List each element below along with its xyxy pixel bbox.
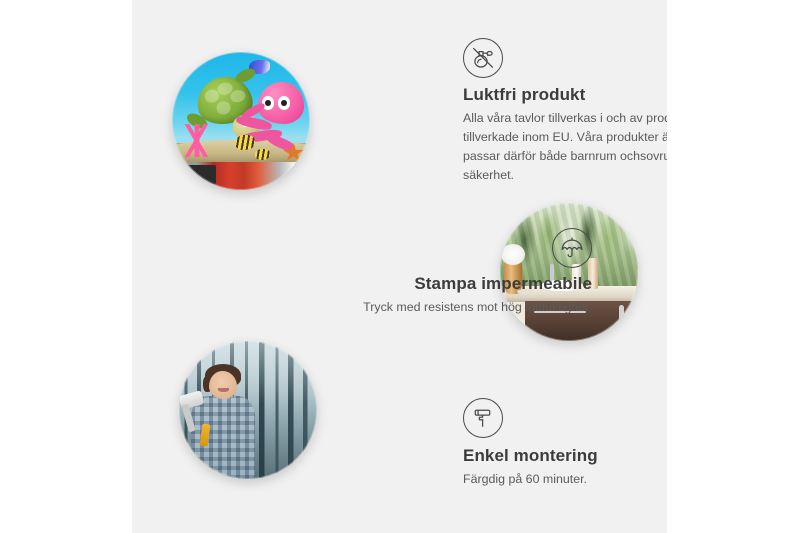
image-bubble-ocean-mural[interactable] bbox=[172, 52, 310, 190]
striped-fish-icon bbox=[235, 135, 254, 150]
feature-title: Stampa impermeabile bbox=[332, 274, 592, 294]
feature-panel: Luktfri produkt Alla våra tavlor tillver… bbox=[132, 0, 667, 533]
ocean-foreground-strip bbox=[172, 162, 310, 190]
forest-mural-artwork bbox=[179, 341, 317, 479]
feature-block-easy-mounting: Enkel montering Färgdig på 60 minuter. bbox=[463, 398, 667, 489]
octopus-head bbox=[258, 82, 305, 123]
feature-description: Alla våra tavlor tillverkas i och av pro… bbox=[463, 109, 667, 184]
person-face bbox=[209, 371, 237, 399]
umbrella-icon bbox=[552, 228, 592, 268]
screenshot-root: Luktfri produkt Alla våra tavlor tillver… bbox=[0, 0, 800, 533]
turtle-flipper-back bbox=[234, 66, 257, 85]
icon-wrapper bbox=[463, 398, 667, 438]
icon-wrapper bbox=[463, 38, 667, 78]
no-odour-icon bbox=[463, 38, 503, 78]
feature-title: Luktfri produkt bbox=[463, 85, 667, 105]
feature-description: Färgdig på 60 minuter. bbox=[463, 470, 667, 489]
pink-coral bbox=[178, 124, 217, 157]
feature-block-odour-free: Luktfri produkt Alla våra tavlor tillver… bbox=[463, 38, 667, 184]
person-smile bbox=[218, 388, 229, 392]
feature-block-waterproof-print: Stampa impermeabile Tryck med resistens … bbox=[332, 228, 592, 317]
feature-description: Tryck med resistens mot hög luftfuktighe… bbox=[332, 298, 592, 317]
image-bubble-forest-mural[interactable] bbox=[179, 341, 317, 479]
feature-title: Enkel montering bbox=[463, 446, 667, 466]
icon-wrapper bbox=[332, 228, 592, 268]
paint-roller-icon bbox=[463, 398, 503, 438]
ocean-mural-artwork bbox=[172, 52, 310, 190]
striped-fish-icon bbox=[255, 149, 270, 160]
